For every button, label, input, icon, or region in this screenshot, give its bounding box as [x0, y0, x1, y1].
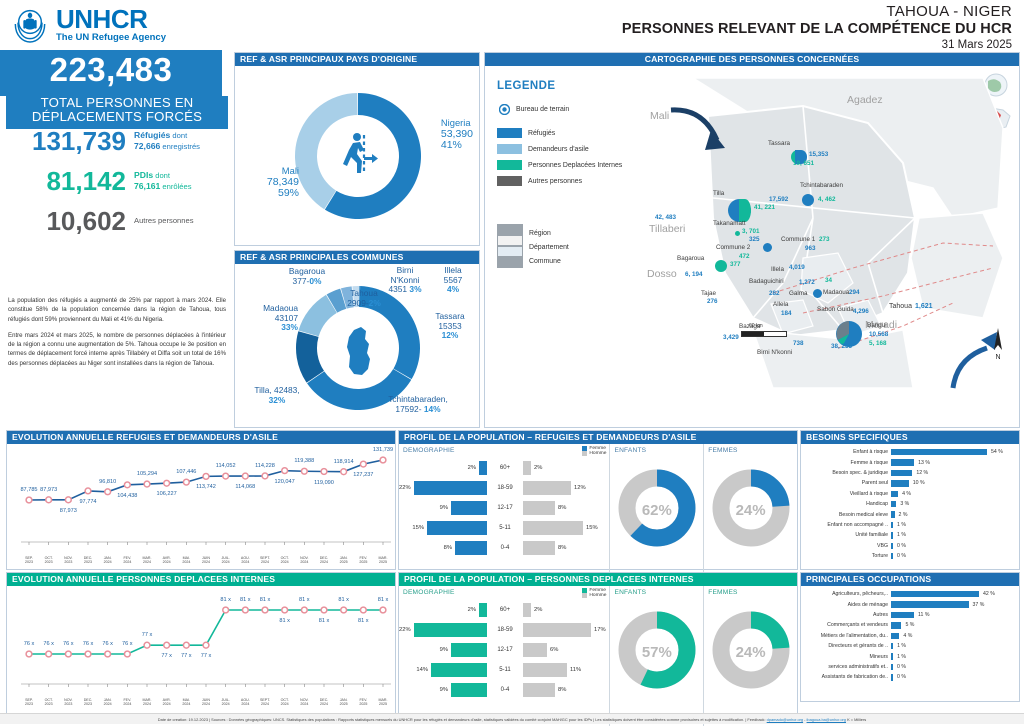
map-value-tassara-blue: 15,353 [809, 151, 828, 158]
bar-fill[interactable] [891, 480, 909, 486]
map-dot-bagaroua[interactable] [715, 260, 727, 272]
tick-year: 2025 [340, 702, 348, 706]
bar-row: Enfant à risque54 % [803, 447, 1015, 457]
map-region-agadez: Agadez [847, 94, 883, 106]
bar-label: Torture [803, 553, 891, 559]
data-point[interactable] [321, 469, 327, 475]
commune-pct: 2% [369, 298, 381, 308]
map-region-mali: Mali [650, 110, 669, 122]
panel-title: EVOLUTION ANNUELLE REFUGIES ET DEMANDEUR… [7, 431, 395, 444]
data-point[interactable] [242, 473, 248, 479]
unhcr-logo: UNHCR The UN Refugee Agency [10, 4, 166, 44]
tick-month: DEC. [320, 698, 329, 702]
tick-year: 2024 [202, 702, 210, 706]
bar-label: Unité familiale [803, 532, 891, 538]
data-point-label: 114,068 [234, 484, 256, 490]
legend-item-3: Autres personnes [497, 176, 582, 186]
bar-fill[interactable] [891, 612, 914, 618]
bar-fill[interactable] [891, 459, 914, 465]
tick-month: SEP. [25, 698, 33, 702]
data-point-label: 81 x [254, 597, 276, 603]
data-point[interactable] [46, 497, 52, 503]
page-title: PERSONNES RELEVANT DE LA COMPÉTENCE DU H… [622, 21, 1012, 37]
bar-fill[interactable] [891, 470, 912, 476]
data-point[interactable] [26, 651, 32, 657]
pyramid-bar-homme[interactable] [523, 623, 591, 637]
unhcr-emblem-icon [10, 4, 50, 44]
tick-year: 2024 [163, 560, 171, 564]
bar-row: Directeurs et gérants de ..1 % [803, 641, 1015, 651]
data-point[interactable] [223, 607, 229, 613]
bar-value: 12 % [912, 470, 928, 476]
bar-label: services administratifs et.. [803, 664, 891, 670]
commune-label-tilla: Tilla, 42483, 32% [239, 386, 315, 405]
pyramid-bar-femme[interactable] [414, 623, 487, 637]
pyramid-age-group: 5-11 [487, 525, 523, 531]
data-point[interactable] [124, 482, 130, 488]
pyramid-bar-homme[interactable] [523, 643, 547, 657]
stat-label-rest: dont [170, 131, 187, 140]
pyramid-bar-homme[interactable] [523, 541, 555, 555]
panel-title: PROFIL DE LA POPULATION – PERSONNES DEPL… [399, 573, 797, 586]
tick-month: SEPT. [260, 556, 270, 560]
data-point[interactable] [183, 642, 189, 648]
tick-month: FEV. [123, 556, 131, 560]
map-value-commune1-green: 273 [819, 236, 830, 243]
bar-row: Femme à risque13 % [803, 457, 1015, 467]
femmes-title: FEMMES [704, 444, 797, 454]
legend-swatch [497, 128, 522, 138]
tick-month: NOV. [300, 698, 308, 702]
bar-label: Enfant non accompagné .. [803, 522, 891, 528]
bar-row: VBG0 % [803, 541, 1015, 551]
map-value-tajae-blue: 276 [707, 298, 718, 305]
demographie-title: DEMOGRAPHIE [399, 444, 609, 454]
tick-year: 2023 [45, 560, 53, 564]
kpi-total-value: 223,483 [0, 50, 222, 86]
data-point[interactable] [105, 651, 111, 657]
commune-value: 377 [293, 276, 307, 286]
pyramid-bar-homme[interactable] [523, 663, 567, 677]
panel-title: CARTOGRAPHIE DES PERSONNES CONCERNÉES [485, 53, 1019, 66]
bar-fill[interactable] [891, 633, 899, 639]
panel-evolution-pdi: EVOLUTION ANNUELLE PERSONNES DEPLACEES I… [6, 572, 396, 714]
data-point-label: 77 x [136, 632, 158, 638]
data-point-label: 81 x [313, 618, 335, 624]
data-point-label: 107,446 [175, 469, 197, 475]
bar-fill[interactable] [891, 591, 979, 597]
map-value-tilla-green: 41, 221 [754, 204, 775, 211]
legend-admin-0: Région [529, 230, 551, 237]
panel-principal-communes: REF & ASR PRINCIPALES COMMUNES Bagaroua … [234, 250, 480, 428]
profil-pdi-body: DEMOGRAPHIE Femme Homme 2%60+2%22%18-591… [399, 586, 797, 726]
population-pyramid: 2%60+2%22%18-5912%9%12-178%15%5-1115%8%0… [399, 458, 611, 558]
data-point[interactable] [164, 480, 170, 486]
bar-fill[interactable] [891, 491, 898, 497]
pyramid-age-group: 0-4 [487, 687, 523, 693]
refugee-walking-icon [331, 129, 383, 181]
north-arrow-icon: N [989, 326, 1007, 360]
map-scale-label: 60 km [749, 323, 763, 329]
data-point-label: 81 x [293, 597, 315, 603]
header-location: TAHOUA - NIGER [622, 3, 1012, 20]
data-point[interactable] [301, 607, 307, 613]
pyramid-age-group: 12-17 [487, 647, 523, 653]
pyramid-bar-femme[interactable] [427, 521, 487, 535]
stat-label-bold: Réfugiés [134, 130, 170, 140]
data-point[interactable] [46, 651, 52, 657]
legend-item-2: Personnes Deplacées Internes [497, 160, 622, 170]
data-point-label: 106,227 [156, 491, 178, 497]
data-point[interactable] [262, 607, 268, 613]
kpi-total-label-1: TOTAL PERSONNES EN [6, 96, 228, 110]
tick-year: 2024 [104, 560, 112, 564]
map-place-tahoua: Tahoua [889, 303, 912, 310]
map-value-madaoua-blue: 294 [849, 289, 860, 296]
pyramid-bar-femme[interactable] [455, 541, 487, 555]
intro-text: La population des réfugiés a augmenté de… [8, 296, 226, 375]
map-body: LEGENDE Bureau de terrain RéfugiésDemand… [485, 66, 1019, 427]
map-value-sabonguida-blue: 4,296 [853, 308, 869, 315]
bar-value: 3 % [896, 501, 909, 507]
bar-label: Femme à risque [803, 460, 891, 466]
panel-title: PROFIL DE LA POPULATION – REFUGIES ET DE… [399, 431, 797, 444]
kpi-total-label-box: TOTAL PERSONNES EN DÉPLACEMENTS FORCÉS [6, 96, 228, 129]
bar-value: 1 % [893, 643, 906, 649]
pyramid-bar-homme[interactable] [523, 521, 583, 535]
bar-label: Autres [803, 612, 891, 618]
data-point[interactable] [360, 607, 366, 613]
femmes-column: FEMMES 24% [704, 444, 797, 582]
pyramid-value-femme: 9% [440, 687, 448, 693]
tick-month: AOU. [241, 556, 250, 560]
footer-email-2[interactable]: ibagoua.ba@unhcr.org [807, 717, 846, 722]
data-point[interactable] [341, 607, 347, 613]
data-point[interactable] [341, 469, 347, 475]
bar-label: Assistants de fabrication de.. [803, 674, 891, 680]
data-point-label: 120,047 [274, 479, 296, 485]
bar-label: Besoin spec. & juridique [803, 470, 891, 476]
pyramid-bar-femme[interactable] [414, 481, 487, 495]
pyramid-bar-femme[interactable] [479, 603, 487, 617]
tick-month: MAI. [183, 556, 190, 560]
pyramid-value-femme: 9% [440, 647, 448, 653]
enfants-donut: 62% [615, 466, 699, 555]
data-point[interactable] [380, 607, 386, 613]
pyramid-bar-homme[interactable] [523, 683, 555, 697]
logo-title: UNHCR [56, 6, 166, 32]
bar-label: Aides de ménage [803, 602, 891, 608]
bar-row: Handicap3 % [803, 499, 1015, 509]
commune-pct: 4% [431, 285, 475, 295]
tick-year: 2024 [320, 702, 328, 706]
bar-row: Aides de ménage37 % [803, 599, 1015, 609]
tick-year: 2024 [320, 560, 328, 564]
data-point[interactable] [203, 642, 209, 648]
legend-admin-1: Département [529, 244, 569, 251]
tick-year: 2024 [182, 560, 190, 564]
map-dot-madaoua[interactable] [813, 289, 822, 298]
tick-year: 2024 [241, 702, 249, 706]
commune-label-bagaroua: Bagaroua 377-0% [257, 267, 357, 286]
tick-month: NOV. [64, 556, 72, 560]
bar-label: Mineurs [803, 654, 891, 660]
data-point-label: 76 x [116, 641, 138, 647]
map-place-commune2: Commune 2 [716, 244, 750, 251]
tick-year: 2024 [222, 560, 230, 564]
enfants-center-value: 57% [615, 608, 699, 697]
data-point[interactable] [203, 473, 209, 479]
tick-year: 2023 [64, 702, 72, 706]
map-place-tassara: Tassara [768, 140, 790, 147]
pyramid-bar-femme[interactable] [451, 501, 487, 515]
map-dot-tilla-green[interactable] [739, 199, 751, 222]
bar-row: Enfant non accompagné ..1 % [803, 520, 1015, 530]
data-point-label: 81 x [274, 618, 296, 624]
data-point[interactable] [85, 651, 91, 657]
pyramid-bar-homme[interactable] [523, 481, 571, 495]
data-point[interactable] [65, 651, 71, 657]
bar-value: 2 % [895, 512, 908, 518]
data-point[interactable] [124, 651, 130, 657]
commune-name: Tilla [254, 385, 269, 395]
data-point-label: 113,742 [195, 484, 217, 490]
data-point-label: 81 x [372, 597, 394, 603]
map-place-tilla: Tilla [713, 190, 724, 197]
tick-month: DEC. [320, 556, 329, 560]
tick-month: JUIL. [221, 698, 229, 702]
bar-row: Mineurs1 % [803, 651, 1015, 661]
panel-title: BESOINS SPECIFIQUES [801, 431, 1019, 444]
map-dot-tchinta-blue[interactable] [802, 194, 814, 206]
legend-label-homme: Homme [589, 451, 606, 456]
map-value-bagaroua-green: 377 [730, 261, 741, 268]
panel-besoins-specifiques: BESOINS SPECIFIQUES Enfant à risque54 %F… [800, 430, 1020, 570]
commune-name: Tchintabaraden [388, 394, 445, 404]
map-canvas[interactable]: Mali Agadez Tillaberi Dosso Maradi Tassa… [653, 68, 1019, 426]
pyramid-bar-femme[interactable] [431, 663, 487, 677]
tick-month: JUIN [202, 698, 210, 702]
tick-month: JAN. [104, 698, 112, 702]
line-chart-svg [7, 588, 397, 688]
data-point[interactable] [223, 473, 229, 479]
tick-year: 2024 [281, 560, 289, 564]
commune-value: 2909 [347, 298, 366, 308]
evolution-pdi-chart: 76 x76 x76 x76 x76 x76 x77 x77 x77 x77 x… [7, 586, 395, 713]
pyramid-bar-femme[interactable] [451, 683, 487, 697]
data-point[interactable] [85, 488, 91, 494]
stat-label: Réfugiés dont 72,666 enregistrés [134, 130, 200, 151]
data-point[interactable] [360, 461, 366, 467]
data-point-label: 104,438 [116, 493, 138, 499]
tick-month: AVR. [163, 556, 171, 560]
pyramid-bar-homme[interactable] [523, 461, 531, 475]
occupations-bar-list: Agriculteurs, pêcheurs,..42 %Aides de mé… [801, 586, 1019, 701]
bar-row: Unité familiale1 % [803, 530, 1015, 540]
gender-legend: Femme Homme [582, 588, 606, 598]
legend-admin-2: Commune [529, 258, 561, 265]
pyramid-bar-homme[interactable] [523, 501, 555, 515]
pyramid-age-group: 60+ [487, 607, 523, 613]
pyramid-age-group: 5-11 [487, 667, 523, 673]
logo-tagline: The UN Refugee Agency [56, 33, 166, 43]
tick-year: 2024 [222, 702, 230, 706]
legend-item-1: Demandeurs d'asile [497, 144, 589, 154]
data-point[interactable] [144, 642, 150, 648]
data-point[interactable] [262, 473, 268, 479]
tick-month: NOV. [64, 698, 72, 702]
bar-fill[interactable] [891, 622, 901, 628]
stat-label-bold: PDIs [134, 170, 153, 180]
intro-paragraph-1: La population des réfugiés a augmenté de… [8, 296, 226, 324]
map-value-takanamatt-green: 3, 701 [742, 228, 760, 235]
map-value-allela-blue: 184 [781, 310, 792, 317]
panel-title: EVOLUTION ANNUELLE PERSONNES DEPLACEES I… [7, 573, 395, 586]
pyramid-value-homme: 6% [550, 647, 558, 653]
tick-month: JAN. [340, 698, 348, 702]
tick-month: MAR. [143, 556, 152, 560]
gender-legend: Femme Homme [582, 446, 606, 456]
tick-year: 2024 [143, 702, 151, 706]
enfants-title: ENFANTS [610, 586, 703, 596]
tick-year: 2023 [84, 702, 92, 706]
bar-row: services administratifs et..0 % [803, 662, 1015, 672]
tick-month: OCT. [281, 698, 289, 702]
stat-label2-bold: 76,161 [134, 181, 160, 191]
data-point[interactable] [26, 497, 32, 503]
map-region-dosso: Dosso [647, 268, 677, 280]
map-value-tchinta-blue: 17,592 [769, 196, 788, 203]
map-value-bangui-green: 5, 168 [869, 340, 887, 347]
bar-fill[interactable] [891, 601, 969, 607]
pyramid-row: 22%18-5917% [399, 620, 611, 640]
legend-swatch [497, 144, 522, 154]
data-point[interactable] [321, 607, 327, 613]
data-point[interactable] [380, 457, 386, 463]
data-point[interactable] [183, 479, 189, 485]
map-scale-bar [741, 331, 787, 337]
data-point[interactable] [65, 497, 71, 503]
commune-label-tahoua: Tahoua 2909-2% [335, 289, 393, 308]
data-point[interactable] [242, 607, 248, 613]
pyramid-value-femme: 22% [399, 485, 411, 491]
page-header: UNHCR The UN Refugee Agency TAHOUA - NIG… [0, 0, 1024, 50]
commune-value: 42483 [274, 385, 297, 395]
legend-swatch [497, 176, 522, 186]
enfants-column: ENFANTS 62% [610, 444, 704, 582]
pyramid-bar-femme[interactable] [451, 643, 487, 657]
admin-swatch-border [497, 257, 523, 268]
tick-year: 2025 [359, 560, 367, 564]
stat-row-pdi: 81,142 PDIs dont 76,161 enrôlées [6, 168, 228, 194]
bar-value: 5 % [901, 622, 914, 628]
bar-label: Parent seul [803, 480, 891, 486]
legend-label: Réfugiés [528, 130, 555, 137]
tick-year: 2025 [379, 560, 387, 564]
data-point[interactable] [282, 607, 288, 613]
commune-label-tchintabaraden: Tchintabaraden, 17592- 14% [355, 395, 481, 414]
pyramid-age-group: 12-17 [487, 505, 523, 511]
data-point-label: 97,774 [77, 499, 99, 505]
bar-label: Enfant à risque [803, 449, 891, 455]
bar-value: 11 % [914, 612, 929, 618]
map-place-illela: Illela [771, 266, 784, 273]
panel-cartography: CARTOGRAPHIE DES PERSONNES CONCERNÉES LE… [484, 52, 1020, 428]
data-point[interactable] [105, 489, 111, 495]
pyramid-row: 22%18-5912% [399, 478, 611, 498]
map-place-takanamatt: Takanamatt [713, 220, 746, 227]
femmes-column: FEMMES 24% [704, 586, 797, 726]
map-place-madaoua: Madaoua [823, 289, 849, 296]
femmes-center-value: 24% [709, 608, 793, 697]
slice-pct: 59% [241, 188, 299, 200]
data-point-label: 81 x [352, 618, 374, 624]
bar-value: 0 % [893, 553, 906, 559]
stat-value: 81,142 [6, 168, 134, 194]
map-value-bazaga-blue: 3,429 [723, 334, 739, 341]
bar-value: 4 % [899, 633, 912, 639]
panel-title: REF & ASR PRINCIPALES COMMUNES [235, 251, 479, 264]
pyramid-row: 9%12-178% [399, 498, 611, 518]
tick-year: 2023 [64, 560, 72, 564]
tick-year: 2023 [45, 702, 53, 706]
commune-pct: 32% [239, 396, 315, 406]
pyramid-bar-femme[interactable] [479, 461, 487, 475]
tick-year: 2024 [163, 702, 171, 706]
footer-email-1[interactable]: dpamado@unhcr.org [767, 717, 803, 722]
pyramid-age-group: 18-59 [487, 627, 523, 633]
map-dot-commune2[interactable] [763, 243, 772, 252]
data-point[interactable] [164, 642, 170, 648]
bar-value: 0 % [893, 543, 906, 549]
legend-item-0: Réfugiés [497, 128, 555, 138]
bar-fill[interactable] [891, 449, 987, 455]
tahoua-region-shape-icon [347, 327, 370, 375]
tick-year: 2025 [340, 560, 348, 564]
data-point[interactable] [282, 468, 288, 474]
commune-value: 17592 [395, 404, 418, 414]
tick-month: SEP. [25, 556, 33, 560]
tick-year: 2024 [261, 702, 269, 706]
pyramid-value-homme: 12% [574, 485, 586, 491]
data-point-label: 87,973 [57, 508, 79, 514]
legend-swatch-homme [582, 593, 587, 598]
data-point-label: 96,810 [97, 479, 119, 485]
stat-label: PDIs dont 76,161 enrôlées [134, 170, 192, 191]
commune-pct: 12% [424, 331, 476, 341]
tick-year: 2024 [202, 560, 210, 564]
bar-label: Handicap [803, 501, 891, 507]
data-point[interactable] [144, 481, 150, 487]
map-dot-takanamatt[interactable] [735, 231, 740, 236]
panel-origin-countries: REF & ASR PRINCIPAUX PAYS D'ORIGINE Nige… [234, 52, 480, 246]
bar-label: Vieillard à risque [803, 491, 891, 497]
stat-value: 131,739 [6, 128, 134, 154]
map-value-commune2-blue: 325 [749, 236, 760, 243]
origin-donut-body: Nigeria 53,390 41% Mali 78,349 59% [235, 66, 479, 245]
bar-label: Agriculteurs, pêcheurs,.. [803, 591, 891, 597]
intro-paragraph-2: Entre mars 2024 et mars 2025, le nombre … [8, 331, 226, 368]
legend-admin-swatches [497, 224, 523, 268]
map-value-badaguichiri-blue: 1,272 [799, 279, 815, 286]
bar-row: Commerçants et vendeurs5 % [803, 620, 1015, 630]
data-point[interactable] [301, 468, 307, 474]
stat-label: Autres personnes [134, 216, 194, 225]
pyramid-bar-homme[interactable] [523, 603, 531, 617]
bar-label: Directeurs et gérants de .. [803, 643, 891, 649]
legend-swatch-homme [582, 451, 587, 456]
field-office-icon [499, 104, 510, 115]
